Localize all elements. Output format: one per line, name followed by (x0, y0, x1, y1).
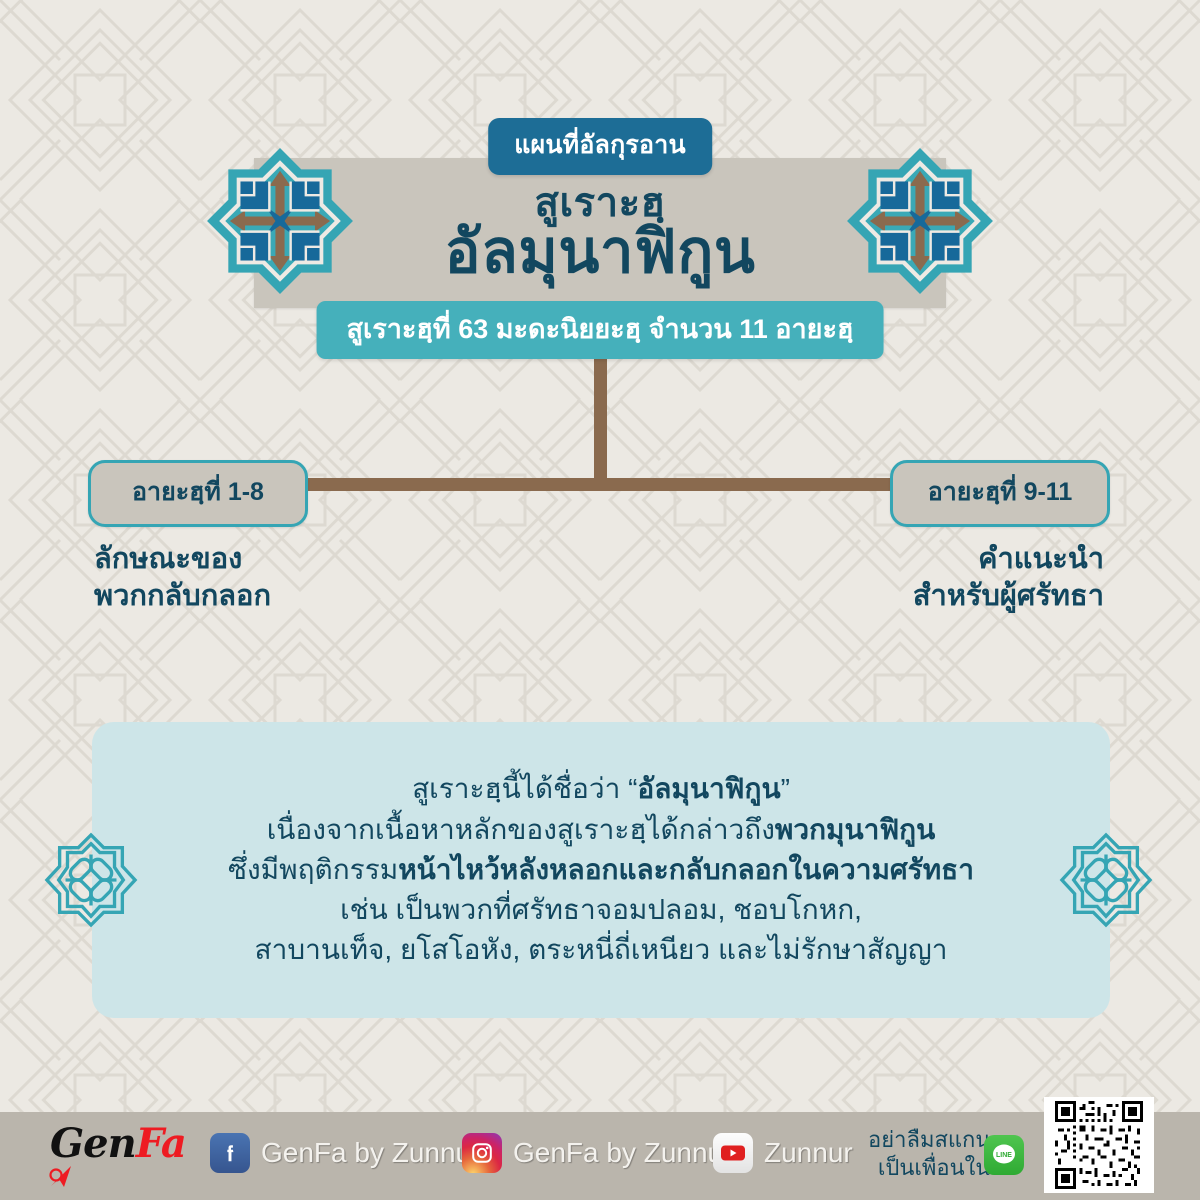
logo-fa-text: Fa (136, 1120, 186, 1167)
eight-point-star-ornament-right (844, 145, 996, 297)
branch-ayat-9-11: อายะฮฺที่ 9-11 คำแนะนำ สำหรับผู้ศรัทธา (890, 460, 1110, 615)
qr-code[interactable] (1044, 1097, 1154, 1193)
eight-point-star-outline-left (42, 831, 140, 929)
description-line: สูเราะฮฺนี้ได้ชื่อว่า “อัลมุนาฟิกูน” (412, 769, 790, 809)
youtube-icon (713, 1133, 753, 1173)
instagram-label: GenFa by Zunnur (513, 1137, 732, 1169)
facebook-label: GenFa by Zunnur (261, 1137, 480, 1169)
genfa-logo: GenFa by Zunnur (50, 1124, 200, 1186)
branch-description-right: คำแนะนำ สำหรับผู้ศรัทธา (890, 541, 1110, 615)
eight-point-star-ornament-left (204, 145, 356, 297)
line-icon[interactable]: LINE (984, 1135, 1024, 1175)
svg-text:LINE: LINE (996, 1152, 1012, 1159)
line-promo-text: อย่าลืมสแกน เป็นเพื่อนใน (868, 1126, 990, 1182)
branch-pill-right[interactable]: อายะฮฺที่ 9-11 (890, 460, 1110, 527)
branch-pill-left[interactable]: อายะฮฺที่ 1-8 (88, 460, 308, 527)
logo-gen-text: Gen (50, 1120, 136, 1167)
branch-description-left: ลักษณะของ พวกกลับกลอก (88, 541, 308, 615)
connector-horizontal-bar (196, 478, 1004, 491)
youtube-label: Zunnur (764, 1137, 853, 1169)
surah-subtitle-bar: สูเราะฮฺที่ 63 มะดะนิยยะฮฺ จำนวน 11 อายะ… (317, 301, 884, 359)
rocket-icon (47, 1164, 73, 1190)
header-zone: สูเราะฮฺ อัลมุนาฟิกูน แผนที่อัลกุรอาน สู… (0, 118, 1200, 338)
facebook-icon (210, 1133, 250, 1173)
description-line: เช่น เป็นพวกที่ศรัทธาจอมปลอม, ชอบโกหก, (340, 890, 862, 930)
description-line: สาบานเท็จ, ยโสโอหัง, ตระหนี่ถี่เหนียว แล… (255, 930, 948, 970)
instagram-icon (462, 1133, 502, 1173)
topic-badge: แผนที่อัลกุรอาน (488, 118, 712, 175)
social-link-instagram[interactable]: GenFa by Zunnur (462, 1133, 732, 1173)
eight-point-star-outline-right (1057, 831, 1155, 929)
description-line: ซึ่งมีพฤติกรรมหน้าไหว้หลังหลอกและกลับกลอ… (228, 850, 974, 890)
social-link-facebook[interactable]: GenFa by Zunnur (210, 1133, 480, 1173)
description-panel: สูเราะฮฺนี้ได้ชื่อว่า “อัลมุนาฟิกูน” เนื… (92, 722, 1110, 1018)
social-link-youtube[interactable]: Zunnur (713, 1133, 853, 1173)
surah-name: อัลมุนาฟิกูน (445, 220, 756, 283)
title-plate: สูเราะฮฺ อัลมุนาฟิกูน (254, 158, 946, 308)
infographic-page: สูเราะฮฺ อัลมุนาฟิกูน แผนที่อัลกุรอาน สู… (0, 0, 1200, 1200)
branch-ayat-1-8: อายะฮฺที่ 1-8 ลักษณะของ พวกกลับกลอก (88, 460, 308, 615)
description-line: เนื่องจากเนื้อหาหลักของสูเราะฮฺได้กล่าวถ… (267, 810, 936, 850)
connector-stem (594, 338, 607, 478)
